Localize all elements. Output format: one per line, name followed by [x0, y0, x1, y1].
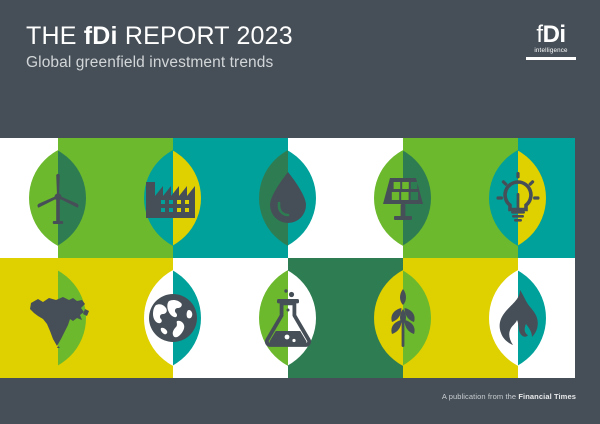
cell-half-left	[115, 258, 173, 378]
cell-half-left	[230, 258, 288, 378]
cell-disc-right	[403, 264, 432, 372]
page-subtitle: Global greenfield investment trends	[26, 53, 293, 72]
cell-disc-right	[173, 144, 202, 252]
cell-disc-left	[374, 264, 403, 372]
mosaic-cell-wind-turbine	[0, 138, 115, 258]
cell-disc-left	[29, 144, 58, 252]
logo-mark-bold: Di	[543, 21, 566, 48]
cell-disc-left	[29, 264, 58, 372]
cell-disc-right	[288, 144, 317, 252]
cell-disc-left	[259, 264, 288, 372]
mosaic-cell-globe	[115, 258, 230, 378]
logo-wordmark: fDi	[526, 22, 576, 47]
mosaic-cell-wheat	[345, 258, 460, 378]
mosaic-cell-factory	[115, 138, 230, 258]
cell-disc-left	[489, 144, 518, 252]
cell-half-right	[173, 258, 231, 378]
icon-mosaic-grid	[0, 138, 575, 378]
cell-disc-right	[403, 144, 432, 252]
publication-prefix: A publication from the	[442, 392, 519, 401]
cell-disc-right	[518, 144, 547, 252]
cover-footer: A publication from the Financial Times	[0, 378, 600, 424]
title-prefix: THE	[26, 22, 84, 50]
cell-disc-right	[173, 264, 202, 372]
cell-half-left	[115, 138, 173, 258]
cell-disc-right	[58, 144, 87, 252]
cell-half-right	[403, 138, 461, 258]
title-suffix: REPORT 2023	[118, 22, 293, 50]
cell-half-right	[403, 258, 461, 378]
mosaic-cell-lightbulb	[460, 138, 575, 258]
title-brand: fDi	[84, 22, 118, 50]
cell-half-right	[288, 138, 346, 258]
cell-disc-left	[374, 144, 403, 252]
page-title: THE fDi REPORT 2023	[26, 22, 293, 51]
cell-disc-right	[58, 264, 87, 372]
cell-half-right	[173, 138, 231, 258]
cell-half-right	[518, 258, 576, 378]
cell-half-left	[0, 138, 58, 258]
mosaic-cell-india-map	[0, 258, 115, 378]
logo-underline-rule	[526, 57, 576, 60]
mosaic-cell-water-drop	[230, 138, 345, 258]
mosaic-cell-flask	[230, 258, 345, 378]
cover-header: THE fDi REPORT 2023 Global greenfield in…	[0, 0, 600, 138]
cell-disc-left	[489, 264, 518, 372]
publication-note: A publication from the Financial Times	[442, 392, 576, 401]
cell-half-left	[460, 258, 518, 378]
cell-half-right	[58, 258, 116, 378]
cell-half-right	[518, 138, 576, 258]
logo-tagline: intelligence	[526, 47, 576, 55]
cell-half-left	[345, 138, 403, 258]
cell-half-left	[230, 138, 288, 258]
cell-half-right	[58, 138, 116, 258]
cell-disc-right	[518, 264, 547, 372]
cell-half-right	[288, 258, 346, 378]
report-cover: THE fDi REPORT 2023 Global greenfield in…	[0, 0, 600, 424]
cell-half-left	[0, 258, 58, 378]
cell-half-left	[345, 258, 403, 378]
mosaic-cell-solar-panel	[345, 138, 460, 258]
cell-half-left	[460, 138, 518, 258]
cell-disc-left	[259, 144, 288, 252]
cell-disc-right	[288, 264, 317, 372]
publication-brand: Financial Times	[518, 392, 576, 401]
cell-disc-left	[144, 144, 173, 252]
cell-disc-left	[144, 264, 173, 372]
title-block: THE fDi REPORT 2023 Global greenfield in…	[26, 22, 293, 72]
fdi-intelligence-logo[interactable]: fDi intelligence	[526, 22, 576, 60]
mosaic-cell-flame	[460, 258, 575, 378]
